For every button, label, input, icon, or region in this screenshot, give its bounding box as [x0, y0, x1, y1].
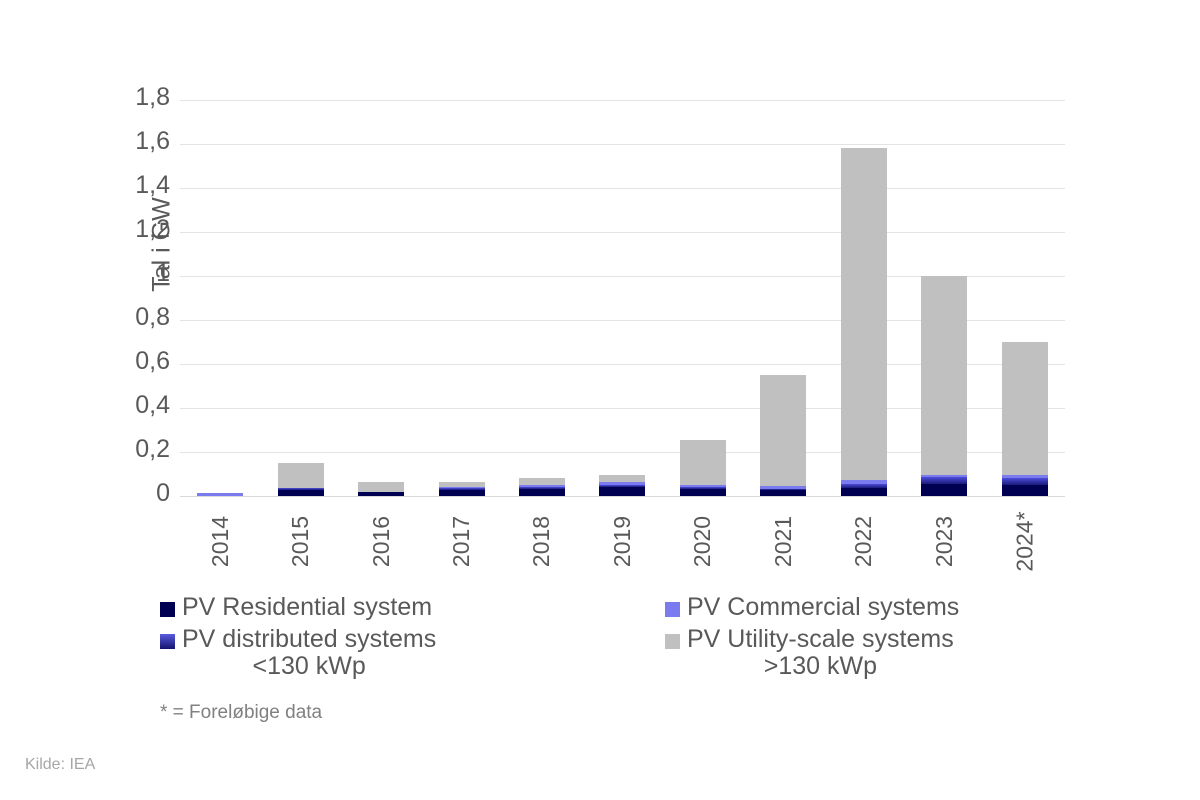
bar-segment-residential[interactable] — [519, 489, 565, 496]
x-axis-tick-text: 2019 — [609, 516, 636, 567]
bar-group — [260, 100, 340, 496]
bar-segment-utility[interactable] — [1002, 342, 1048, 475]
y-axis-tick-label: 0,2 — [0, 435, 184, 464]
legend-swatch-residential-icon — [160, 602, 175, 617]
bar-segment-commercial[interactable] — [1002, 475, 1048, 478]
bar-segment-utility[interactable] — [841, 148, 887, 480]
bar-segment-distributed[interactable] — [439, 488, 485, 490]
plot-area — [180, 100, 1065, 496]
stacked-bar[interactable] — [760, 375, 806, 496]
legend-swatch-commercial-icon — [665, 602, 680, 617]
bar-group — [502, 100, 582, 496]
x-axis-tick-text: 2023 — [931, 516, 958, 567]
x-axis-tick-label: 2021 — [763, 500, 803, 570]
bar-segment-residential[interactable] — [278, 490, 324, 496]
stacked-bar[interactable] — [197, 493, 243, 496]
y-axis-tick-label: 0 — [0, 479, 184, 508]
bar-segment-commercial[interactable] — [680, 485, 726, 487]
legend-label-utility-sub: >130 kWp — [687, 653, 954, 681]
x-axis-tick-label: 2023 — [924, 500, 964, 570]
legend-label-distributed-main: PV distributed systems — [182, 625, 436, 653]
y-axis-tick-label: 0,6 — [0, 347, 184, 376]
y-axis-tick-label: 1,2 — [0, 215, 184, 244]
bar-segment-commercial[interactable] — [519, 485, 565, 487]
legend-label-distributed: PV distributed systems <130 kWp — [182, 626, 436, 681]
stacked-bar[interactable] — [278, 463, 324, 496]
x-axis-tick-label: 2024* — [1005, 500, 1045, 570]
bar-segment-utility[interactable] — [519, 478, 565, 486]
bar-group — [743, 100, 823, 496]
stacked-bar[interactable] — [921, 276, 967, 496]
bar-segment-residential[interactable] — [439, 490, 485, 496]
x-axis-tick-label: 2016 — [361, 500, 401, 570]
legend-label-commercial: PV Commercial systems — [687, 594, 959, 622]
x-axis-tick-text: 2017 — [448, 516, 475, 567]
bar-segment-commercial[interactable] — [599, 482, 645, 485]
chart-source: Kilde: IEA — [25, 756, 95, 774]
y-axis-tick-label: 1,6 — [0, 127, 184, 156]
x-axis-tick-label: 2015 — [281, 500, 321, 570]
y-axis-tick-label: 1,8 — [0, 83, 184, 112]
x-axis-tick-text: 2018 — [529, 516, 556, 567]
stacked-bar[interactable] — [1002, 342, 1048, 496]
bar-group — [663, 100, 743, 496]
x-axis-tick-label: 2018 — [522, 500, 562, 570]
bar-segment-residential[interactable] — [841, 488, 887, 496]
bar-segment-distributed[interactable] — [599, 485, 645, 487]
legend-item-commercial[interactable]: PV Commercial systems — [665, 594, 1040, 622]
x-axis-tick-label: 2017 — [442, 500, 482, 570]
x-axis-tick-label: 2014 — [200, 500, 240, 570]
x-axis-tick-text: 2024* — [1011, 511, 1038, 571]
stacked-bar[interactable] — [439, 482, 485, 496]
y-axis-tick-label: 0,4 — [0, 391, 184, 420]
bar-group — [180, 100, 260, 496]
bar-group — [824, 100, 904, 496]
stacked-bar[interactable] — [358, 482, 404, 496]
legend-label-distributed-sub: <130 kWp — [182, 653, 436, 681]
x-axis-tick-label: 2019 — [603, 500, 643, 570]
x-axis-tick-labels: 2014201520162017201820192020202120222023… — [180, 500, 1065, 570]
legend-label-residential: PV Residential system — [182, 594, 432, 622]
bar-segment-distributed[interactable] — [841, 484, 887, 488]
bar-segment-distributed[interactable] — [519, 487, 565, 490]
stacked-bar[interactable] — [680, 440, 726, 496]
bar-segment-residential[interactable] — [760, 490, 806, 496]
bar-group — [985, 100, 1065, 496]
legend-row: PV Residential system PV Commercial syst… — [160, 594, 1040, 622]
stacked-bar[interactable] — [841, 148, 887, 496]
y-axis-tick-label: 0,8 — [0, 303, 184, 332]
bar-segment-utility[interactable] — [599, 475, 645, 482]
y-axis-tick-label: 1 — [0, 259, 184, 288]
chart-legend: PV Residential system PV Commercial syst… — [160, 594, 1060, 685]
bar-segment-commercial[interactable] — [197, 493, 243, 496]
bar-segment-residential[interactable] — [358, 492, 404, 496]
bar-segment-utility[interactable] — [358, 482, 404, 492]
bar-segment-commercial[interactable] — [760, 486, 806, 489]
x-axis-tick-text: 2020 — [689, 516, 716, 567]
stacked-bar[interactable] — [599, 475, 645, 496]
bar-segment-distributed[interactable] — [1002, 478, 1048, 485]
legend-label-utility: PV Utility-scale systems >130 kWp — [687, 626, 954, 681]
x-axis-tick-text: 2021 — [770, 516, 797, 567]
x-axis-tick-text: 2016 — [368, 516, 395, 567]
legend-item-distributed[interactable]: PV distributed systems <130 kWp — [160, 626, 665, 681]
chart-container: Tal i GW 1,81,61,41,210,80,60,40,20 2014… — [0, 0, 1200, 800]
bar-group — [421, 100, 501, 496]
x-axis-tick-text: 2022 — [850, 516, 877, 567]
bar-segment-distributed[interactable] — [921, 477, 967, 484]
bar-segment-utility[interactable] — [278, 463, 324, 488]
legend-label-utility-main: PV Utility-scale systems — [687, 625, 954, 653]
chart-footnote: * = Foreløbige data — [160, 702, 322, 724]
legend-item-utility[interactable]: PV Utility-scale systems >130 kWp — [665, 626, 1040, 681]
bar-segment-distributed[interactable] — [760, 488, 806, 490]
bar-segment-utility[interactable] — [921, 276, 967, 475]
bar-segment-commercial[interactable] — [921, 475, 967, 477]
bar-segment-distributed[interactable] — [278, 488, 324, 490]
bar-segment-commercial[interactable] — [841, 480, 887, 484]
legend-swatch-utility-icon — [665, 634, 680, 649]
y-axis-tick-label: 1,4 — [0, 171, 184, 200]
bar-segment-residential[interactable] — [599, 487, 645, 496]
bar-segment-residential[interactable] — [1002, 485, 1048, 496]
bar-series-group — [180, 100, 1065, 496]
legend-row: PV distributed systems <130 kWp PV Utili… — [160, 626, 1040, 681]
x-axis-tick-text: 2014 — [207, 516, 234, 567]
x-axis-tick-label: 2022 — [844, 500, 884, 570]
bar-group — [904, 100, 984, 496]
bar-segment-utility[interactable] — [439, 482, 485, 487]
bar-segment-residential[interactable] — [921, 484, 967, 496]
bar-segment-utility[interactable] — [760, 375, 806, 486]
bar-group — [341, 100, 421, 496]
bar-segment-distributed[interactable] — [680, 487, 726, 489]
stacked-bar[interactable] — [519, 478, 565, 496]
bar-segment-utility[interactable] — [680, 440, 726, 486]
legend-swatch-distributed-icon — [160, 634, 175, 649]
axis-baseline — [180, 496, 1065, 497]
bar-group — [582, 100, 662, 496]
x-axis-tick-label: 2020 — [683, 500, 723, 570]
bar-segment-residential[interactable] — [680, 489, 726, 496]
legend-item-residential[interactable]: PV Residential system — [160, 594, 665, 622]
x-axis-tick-text: 2015 — [287, 516, 314, 567]
